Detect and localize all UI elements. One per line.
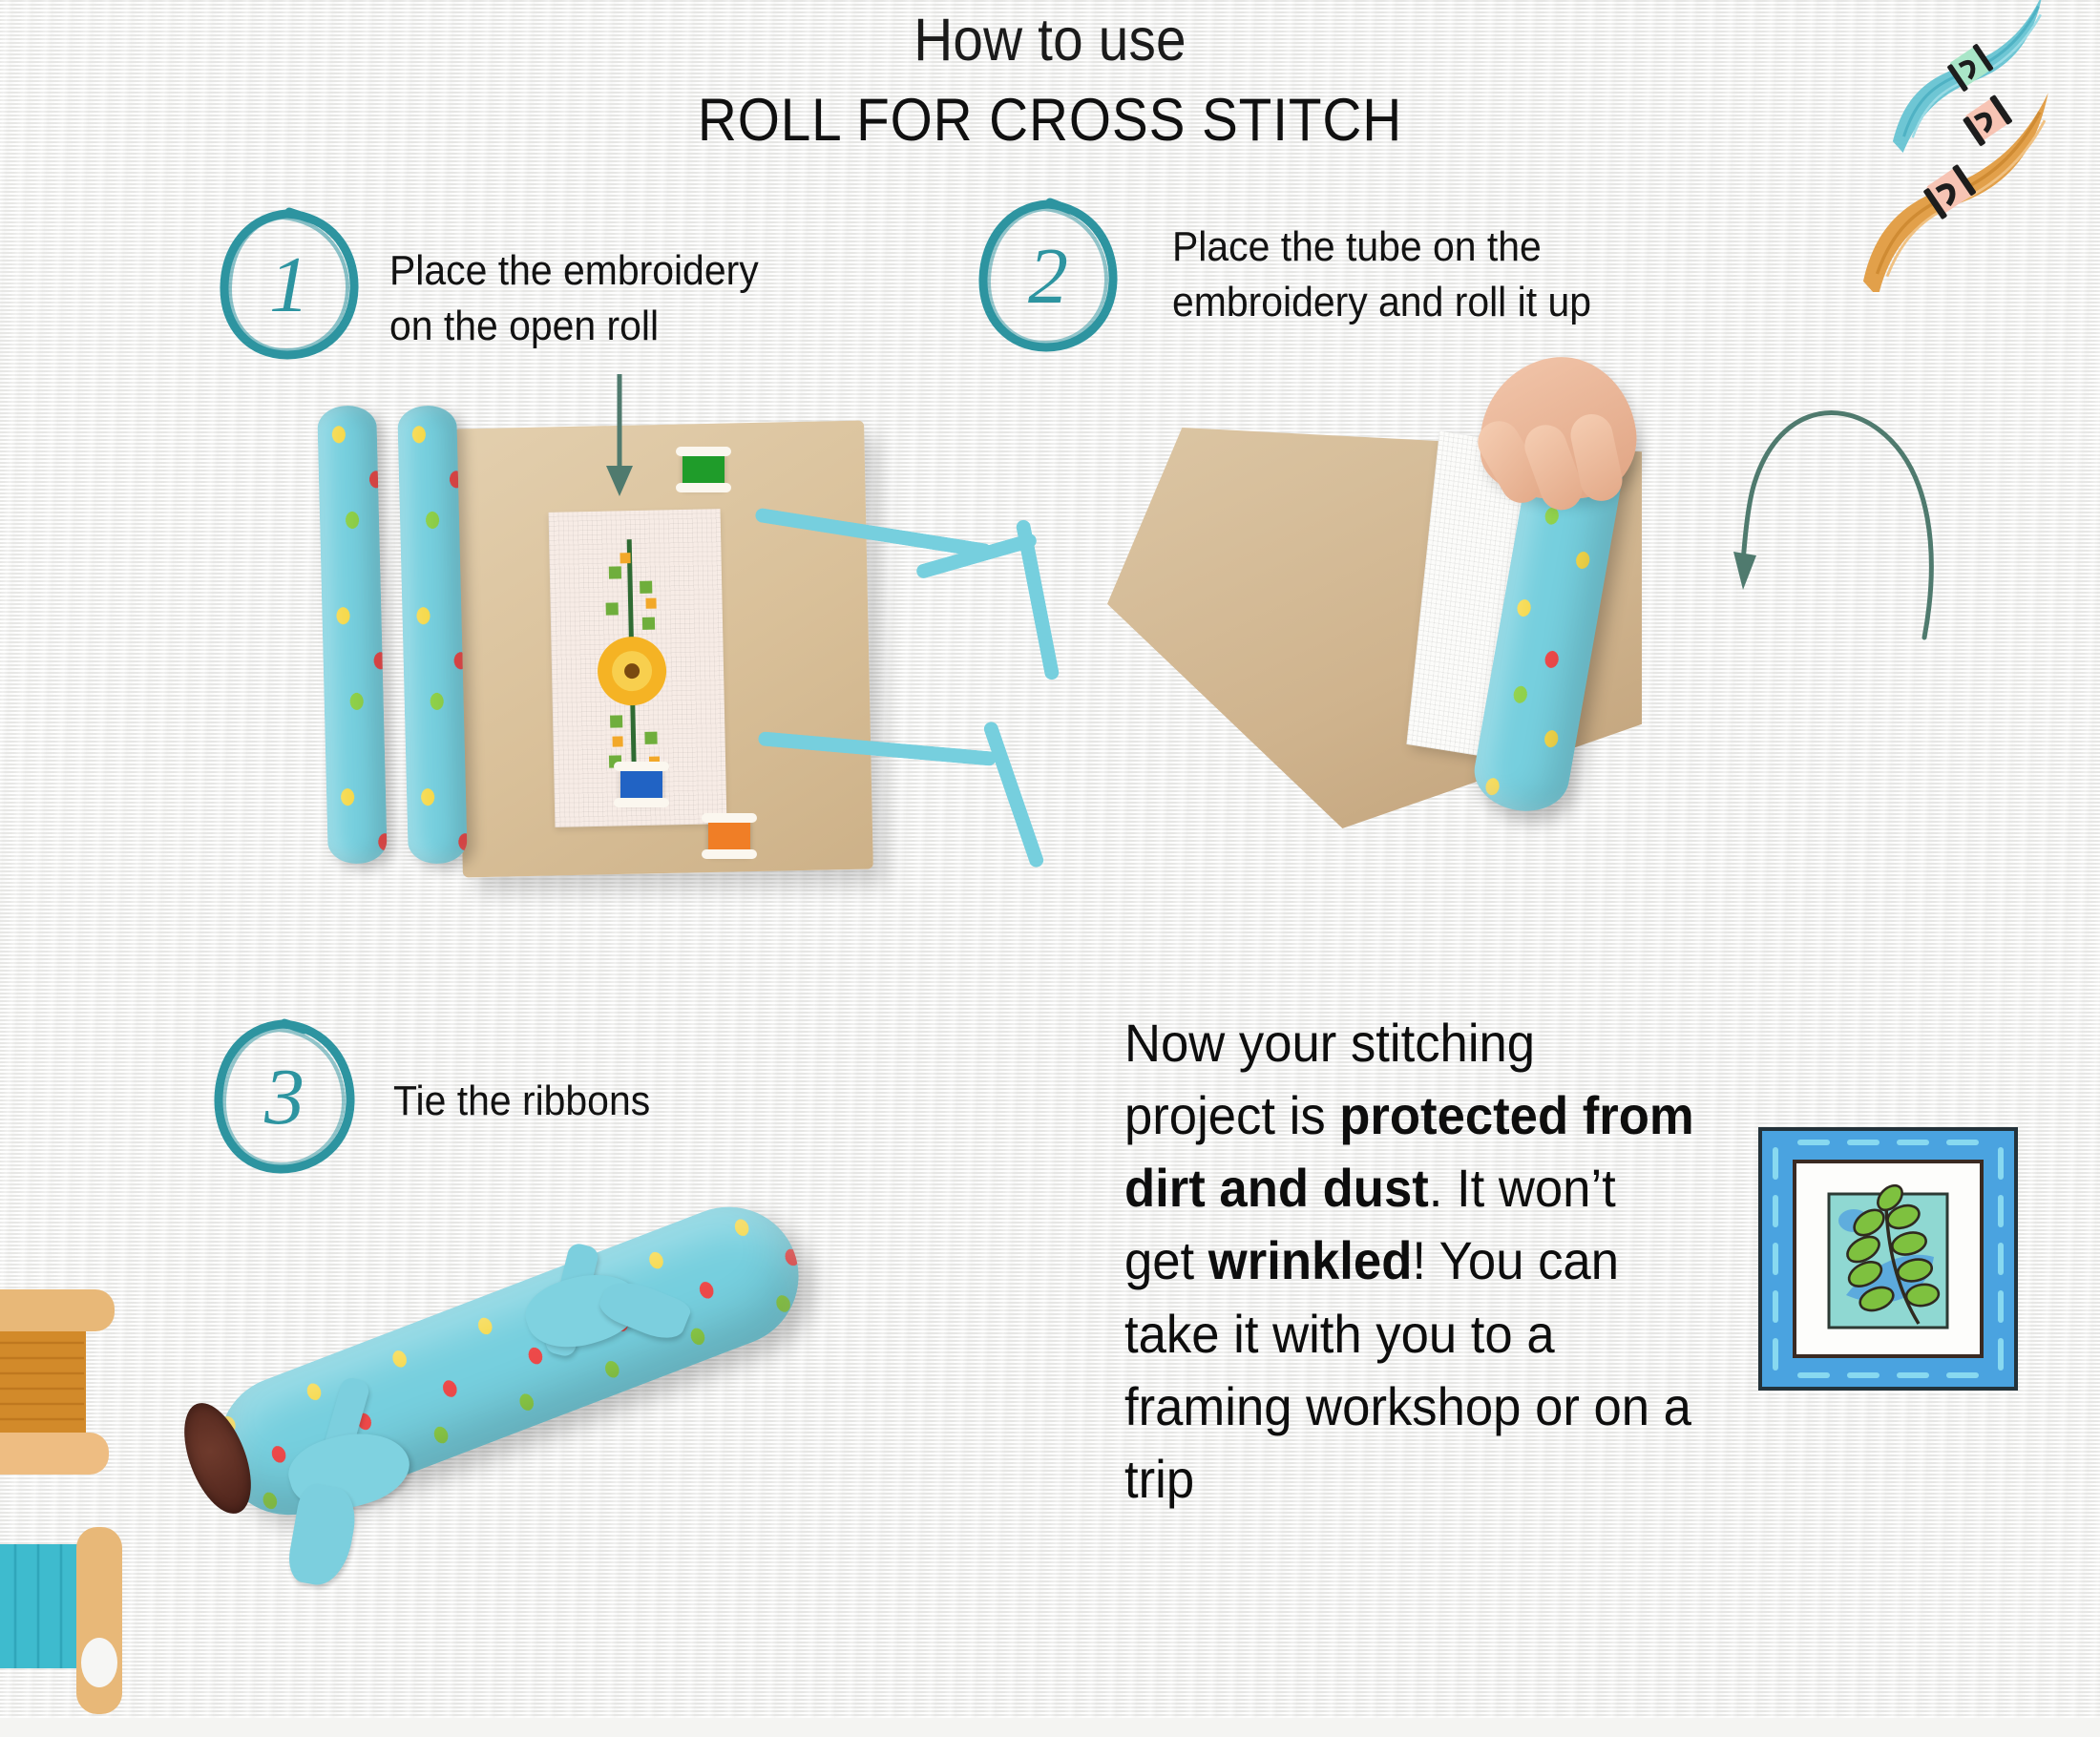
- step-3-caption-line-1: Tie the ribbons: [393, 1074, 819, 1129]
- tie-ribbon-bottom-2: [982, 720, 1045, 868]
- step-2-caption: Place the tube on the embroidery and rol…: [1172, 220, 1740, 330]
- outro-bold-2: wrinkled: [1208, 1230, 1413, 1290]
- step-2-caption-line-1: Place the tube on the: [1172, 220, 1740, 275]
- step-1-marker: 1: [218, 208, 361, 361]
- photo-step-3-tied-roll: [177, 1131, 902, 1627]
- thread-spool-orange-decoration: [0, 1284, 164, 1484]
- floss-bobbin-orange: [708, 818, 750, 854]
- step-3-marker: 3: [212, 1019, 357, 1174]
- fabric-tube-right: [397, 405, 468, 864]
- step-2-marker: 2: [976, 199, 1121, 353]
- thread-spool-teal-decoration: [0, 1527, 160, 1732]
- tie-ribbon-top-3: [1015, 519, 1060, 681]
- fabric-tube-left: [317, 405, 388, 864]
- step-3-caption: Tie the ribbons: [393, 1074, 819, 1129]
- title-line-2: ROLL FOR CROSS STITCH: [105, 86, 1995, 155]
- title-line-1: How to use: [105, 6, 1995, 74]
- step-1-caption-line-1: Place the embroidery: [389, 243, 869, 299]
- outro-paragraph: Now your stitching project is protected …: [1124, 1007, 1699, 1516]
- page-title: How to use ROLL FOR CROSS STITCH: [0, 6, 2100, 155]
- floss-bobbin-green: [682, 451, 724, 488]
- step-1-caption-line-2: on the open roll: [389, 299, 869, 354]
- floss-bobbin-blue: [620, 766, 662, 803]
- photo-step-1-open-roll: [315, 406, 1012, 902]
- curved-loop-arrow-icon-step-2: [1735, 365, 1993, 641]
- step-2-caption-line-2: embroidery and roll it up: [1172, 275, 1740, 330]
- framed-leaf-embroidery-decoration: [1754, 1121, 2031, 1403]
- step-1-caption: Place the embroidery on the open roll: [389, 243, 869, 354]
- down-arrow-icon-step-1: [601, 374, 640, 498]
- photo-step-2-rolling: [1107, 410, 1775, 878]
